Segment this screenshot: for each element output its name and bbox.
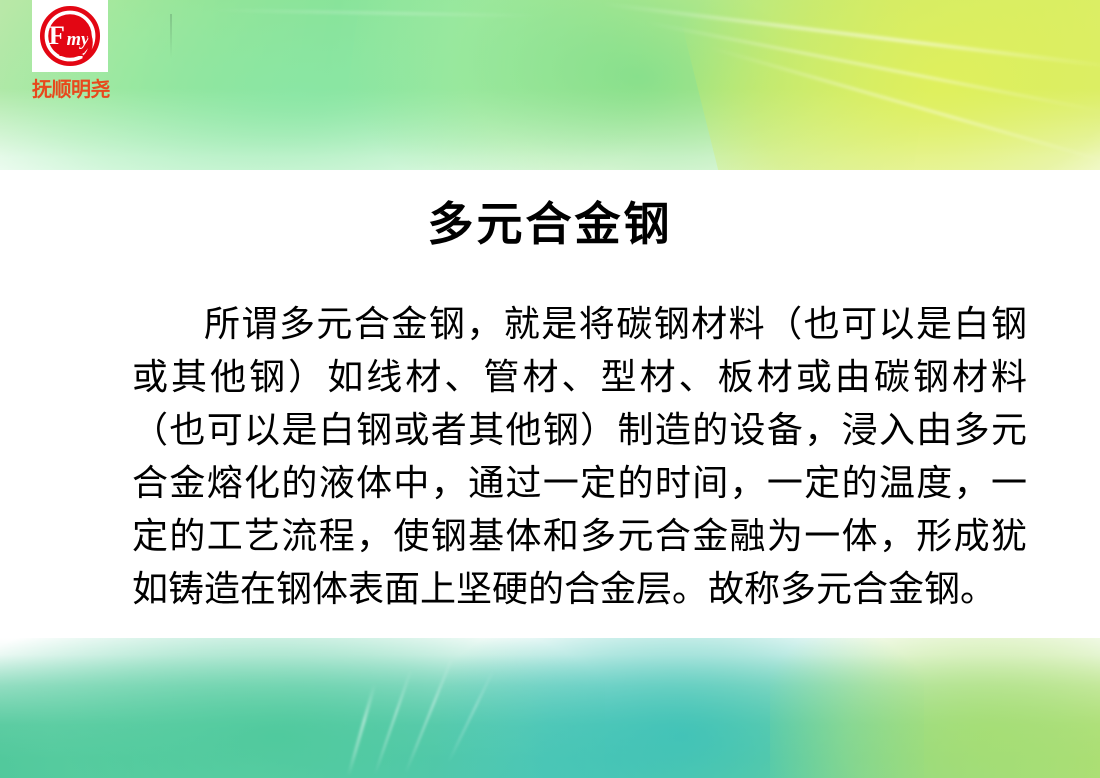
banner-seam-line [170,14,172,58]
slide-body-paragraph: 所谓多元合金钢，就是将碳钢材料（也可以是白钢或其他钢）如线材、管材、型材、板材或… [132,298,1027,615]
logo-card: F my [32,0,108,72]
top-decorative-banner [0,0,1100,170]
slide-title: 多元合金钢 [0,199,1100,250]
svg-text:F: F [49,20,65,50]
bottom-decorative-band [0,638,1100,778]
svg-text:my: my [67,29,90,49]
footer-yellow-wash-right [770,638,1100,778]
banner-yellow-wash-right [668,0,1100,170]
slide-canvas: F my 抚顺明尧 多元合金钢 所谓多元合金钢，就是将碳钢材料（也可以是白钢或其… [0,0,1100,778]
company-logo: F my 抚顺明尧 [32,0,108,100]
fmy-circle-logo-icon: F my [37,3,103,69]
company-name-label: 抚顺明尧 [32,80,108,100]
